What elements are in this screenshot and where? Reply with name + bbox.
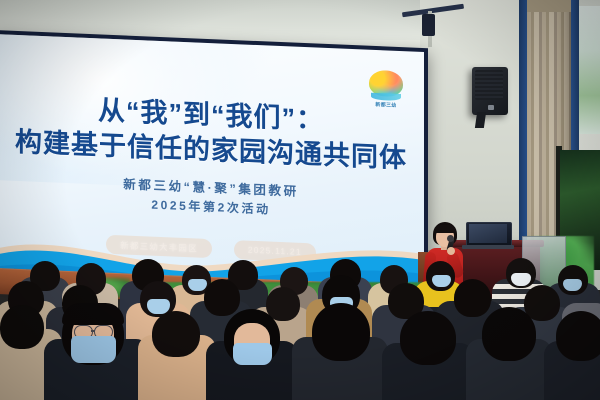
attendee-head bbox=[454, 279, 491, 317]
attendee-head bbox=[482, 307, 536, 361]
attendee-head bbox=[400, 311, 456, 365]
microphone-head bbox=[447, 235, 454, 242]
eyeglasses-bridge bbox=[91, 330, 95, 332]
face-mask bbox=[233, 343, 272, 365]
face-mask bbox=[188, 279, 207, 291]
attendee-head bbox=[556, 311, 600, 361]
presenter-hand bbox=[447, 247, 455, 255]
attendee-head bbox=[312, 303, 370, 361]
window-upper bbox=[578, 6, 600, 134]
slide-titles: 从“我”到“我们”： 构建基于信任的家园沟通共同体 新都三幼“慧·聚”集团教研 … bbox=[0, 90, 424, 226]
track-light-icon bbox=[422, 14, 435, 36]
speaker-grill bbox=[475, 70, 503, 100]
attendee-head bbox=[152, 311, 200, 357]
attendee-head bbox=[204, 279, 240, 316]
curtain-rail bbox=[527, 0, 573, 12]
attendee-fringe bbox=[62, 303, 124, 325]
face-mask bbox=[511, 273, 531, 286]
speaker-badge bbox=[488, 105, 494, 110]
face-mask bbox=[432, 275, 451, 287]
audience bbox=[0, 255, 600, 400]
photo-scene: 新都三幼 从“我”到“我们”： 构建基于信任的家园沟通共同体 新都三幼“慧·聚”… bbox=[0, 0, 600, 400]
laptop-screen bbox=[469, 224, 507, 243]
presenter-fringe bbox=[434, 225, 456, 233]
laptop-base bbox=[462, 245, 514, 249]
logo-swoosh-icon bbox=[371, 93, 401, 101]
attendee-head bbox=[0, 305, 44, 349]
face-mask bbox=[71, 336, 116, 363]
face-mask bbox=[563, 279, 582, 291]
